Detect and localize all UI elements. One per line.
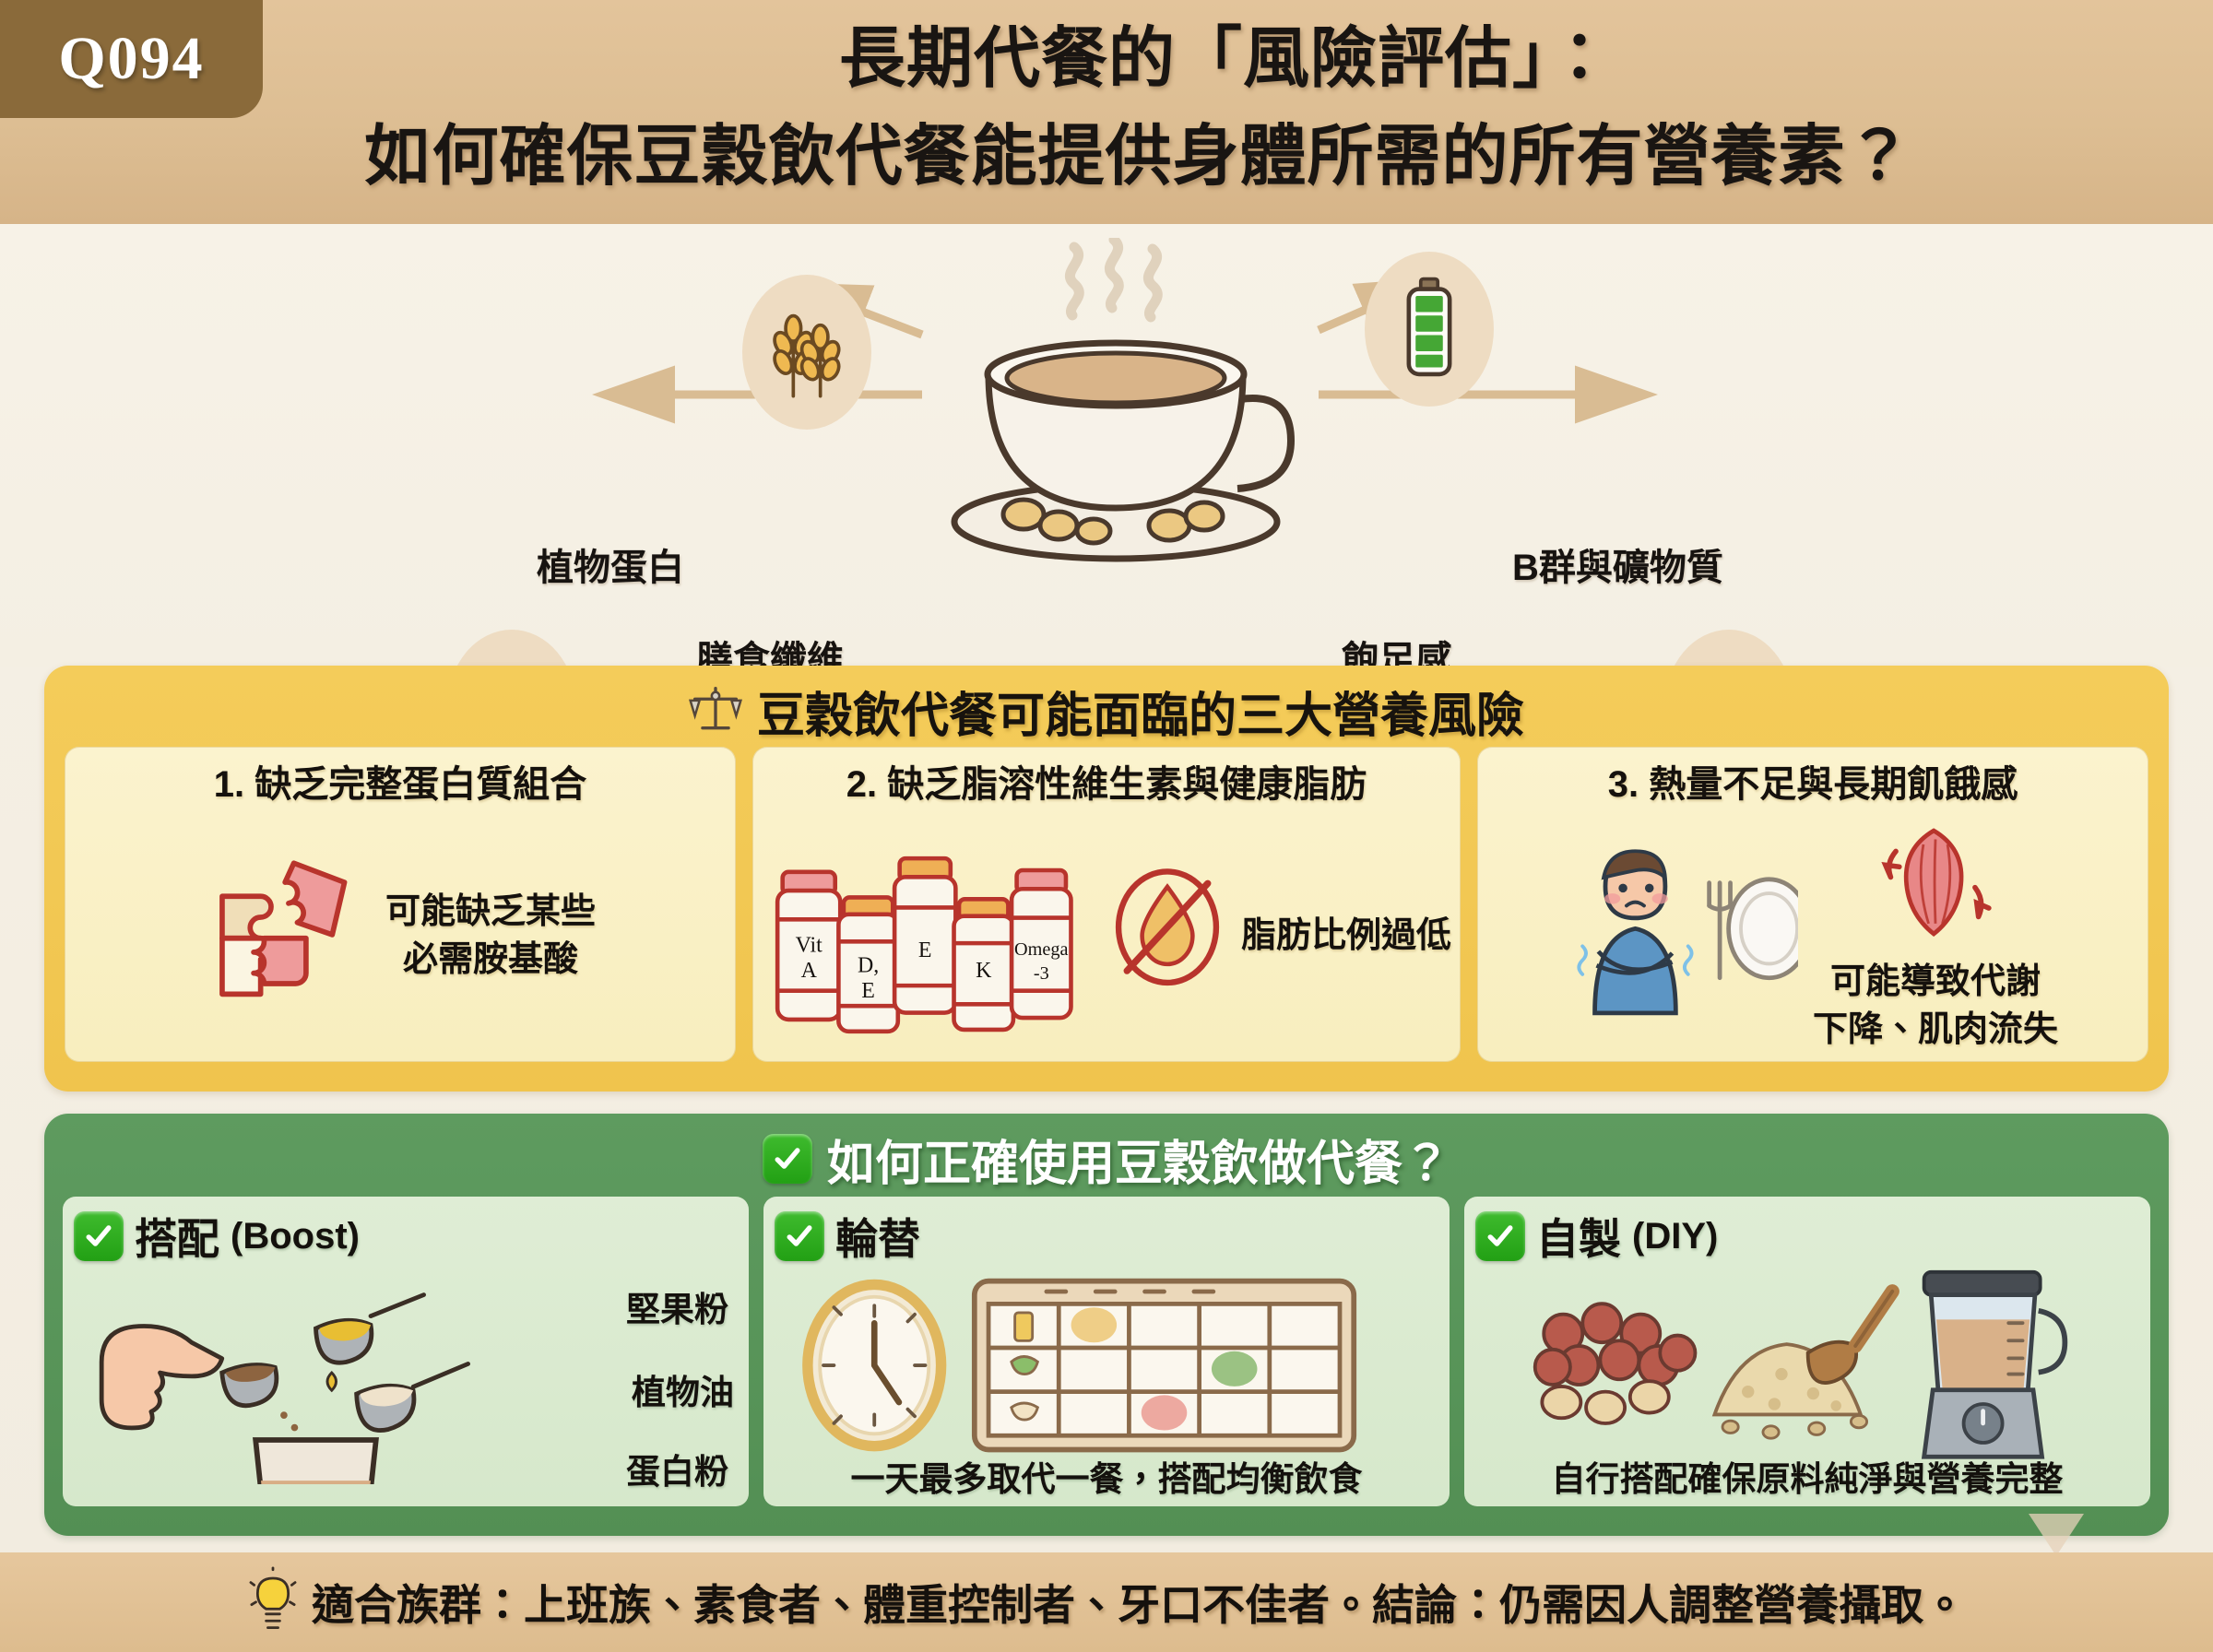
page-title: 長期代餐的「風險評估」： 如何確保豆穀飲代餐能提供身體所需的所有營養素？: [277, 9, 2176, 205]
footer-text: 適合族群：上班族、素食者、體重控制者、牙口不佳者。結論：仍需因人調整營養攝取。: [312, 1572, 1966, 1633]
svg-text:E: E: [861, 979, 875, 1003]
risk-card-2-note-line1: 脂肪比例過低: [1241, 912, 1451, 960]
howto-card-3-title-en: (DIY): [1632, 1216, 1718, 1257]
risk-card-2-title: 2. 缺乏脂溶性維生素與健康脂肪: [762, 760, 1451, 809]
howto-card-1-title-zh: 搭配: [135, 1206, 219, 1267]
infographic-page: Q094 長期代餐的「風險評估」： 如何確保豆穀飲代餐能提供身體所需的所有營養素…: [0, 0, 2213, 1652]
howto-heading: 如何正確使用豆穀飲做代餐？: [63, 1121, 2150, 1197]
cold-hungry-person-icon: [1568, 837, 1798, 1035]
clock-meal-schedule-icon: [791, 1274, 1372, 1463]
benefit-label-b-vitamins: B群與礦物質: [1512, 537, 1723, 591]
risk-card-protein: 1. 缺乏完整蛋白質組合 可能缺乏某些: [65, 747, 736, 1062]
vitamin-bottles-icon: VitA D,E E K Omega-3: [762, 828, 1094, 1044]
risks-heading-text: 豆穀飲代餐可能面臨的三大營養風險: [757, 677, 1524, 746]
risk-card-3-note-line1: 可能導致代謝: [1813, 958, 2058, 1006]
page-header: Q094 長期代餐的「風險評估」： 如何確保豆穀飲代餐能提供身體所需的所有營養素…: [0, 0, 2213, 224]
title-line-2: 如何確保豆穀飲代餐能提供身體所需的所有營養素？: [101, 109, 2176, 205]
risk-cards-list: 1. 缺乏完整蛋白質組合 可能缺乏某些: [65, 747, 2148, 1062]
check-mark-icon: [775, 1211, 824, 1261]
risk-card-1-title: 1. 缺乏完整蛋白質組合: [74, 760, 727, 809]
muscle-loss-icon: [1866, 819, 2005, 952]
check-mark-icon: [763, 1134, 812, 1184]
howto-card-boost: 搭配 (Boost): [63, 1197, 749, 1506]
risk-card-fat-vitamins: 2. 缺乏脂溶性維生素與健康脂肪: [752, 747, 1461, 1062]
risk-card-2-note: 脂肪比例過低: [1241, 912, 1451, 960]
question-number-badge: Q094: [0, 0, 263, 118]
boost-label-vegetable-oil: 植物油: [632, 1364, 734, 1414]
check-mark-icon: [1475, 1211, 1525, 1261]
risk-card-1-note-line2: 必需胺基酸: [385, 936, 596, 984]
lightbulb-icon: [247, 1566, 299, 1639]
hand-scoop-glass-icon: [77, 1263, 575, 1489]
howto-heading-text: 如何正確使用豆穀飲做代餐？: [827, 1125, 1450, 1194]
howto-card-3-caption: 自行搭配確保原料純淨與營養完整: [1464, 1451, 2150, 1501]
page-footer: 適合族群：上班族、素食者、體重控制者、牙口不佳者。結論：仍需因人調整營養攝取。: [0, 1552, 2213, 1652]
howto-card-2-title-zh: 輪替: [835, 1206, 920, 1267]
battery-icon: [1365, 252, 1494, 407]
svg-text:K: K: [976, 958, 992, 982]
beans-oats-blender-icon: [1501, 1268, 2101, 1467]
risk-card-1-note: 可能缺乏某些 必需胺基酸: [385, 888, 596, 984]
boost-label-protein-powder: 蛋白粉: [626, 1444, 728, 1493]
balance-scale-icon: [689, 682, 742, 740]
benefit-label-plant-protein-top: 植物蛋白: [537, 537, 684, 591]
howto-section: 如何正確使用豆穀飲做代餐？ 搭配 (Boost): [44, 1114, 2169, 1536]
howto-card-2-caption: 一天最多取代一餐，搭配均衡飲食: [763, 1451, 1450, 1501]
howto-card-3-title: 自製 (DIY): [1475, 1206, 2139, 1267]
decorative-pointer: [2029, 1514, 2084, 1556]
risk-card-3-note-line2: 下降、肌肉流失: [1813, 1006, 2058, 1054]
boost-label-nut-powder: 堅果粉: [626, 1281, 728, 1331]
no-oil-drop-icon: [1108, 867, 1226, 1006]
nutrition-risks-section: 豆穀飲代餐可能面臨的三大營養風險 1. 缺乏完整蛋白質組合: [44, 666, 2169, 1091]
svg-text:E: E: [918, 938, 932, 962]
svg-text:D,: D,: [858, 953, 879, 977]
howto-card-diy: 自製 (DIY): [1464, 1197, 2150, 1506]
howto-card-2-title: 輪替: [775, 1206, 1438, 1267]
svg-text:Vit: Vit: [796, 933, 822, 957]
risk-card-3-note: 可能導致代謝 下降、肌肉流失: [1813, 958, 2058, 1054]
risks-heading: 豆穀飲代餐可能面臨的三大營養風險: [65, 675, 2148, 747]
risk-card-calorie-deficit: 3. 熱量不足與長期飢餓感: [1477, 747, 2148, 1062]
svg-text:Omega: Omega: [1014, 939, 1068, 960]
soy-drink-cup-icon: [922, 238, 1309, 570]
howto-cards-list: 搭配 (Boost): [63, 1197, 2150, 1506]
risk-card-1-note-line1: 可能缺乏某些: [385, 888, 596, 936]
howto-card-3-title-zh: 自製: [1536, 1206, 1621, 1267]
howto-card-1-title: 搭配 (Boost): [74, 1206, 738, 1267]
hero-benefits-diagram: 植物蛋白 膳食纖維 植物蛋白 B群與礦物質: [0, 224, 2213, 667]
wheat-icon: [742, 275, 871, 430]
puzzle-pieces-icon: [205, 851, 371, 1021]
howto-card-rotation: 輪替: [763, 1197, 1450, 1506]
title-line-1: 長期代餐的「風險評估」：: [277, 9, 2176, 109]
risk-card-3-title: 3. 熱量不足與長期飢餓感: [1486, 760, 2139, 809]
svg-text:-3: -3: [1034, 962, 1049, 983]
check-mark-icon: [74, 1211, 124, 1261]
howto-card-1-title-en: (Boost): [231, 1216, 360, 1257]
svg-text:A: A: [801, 958, 818, 982]
